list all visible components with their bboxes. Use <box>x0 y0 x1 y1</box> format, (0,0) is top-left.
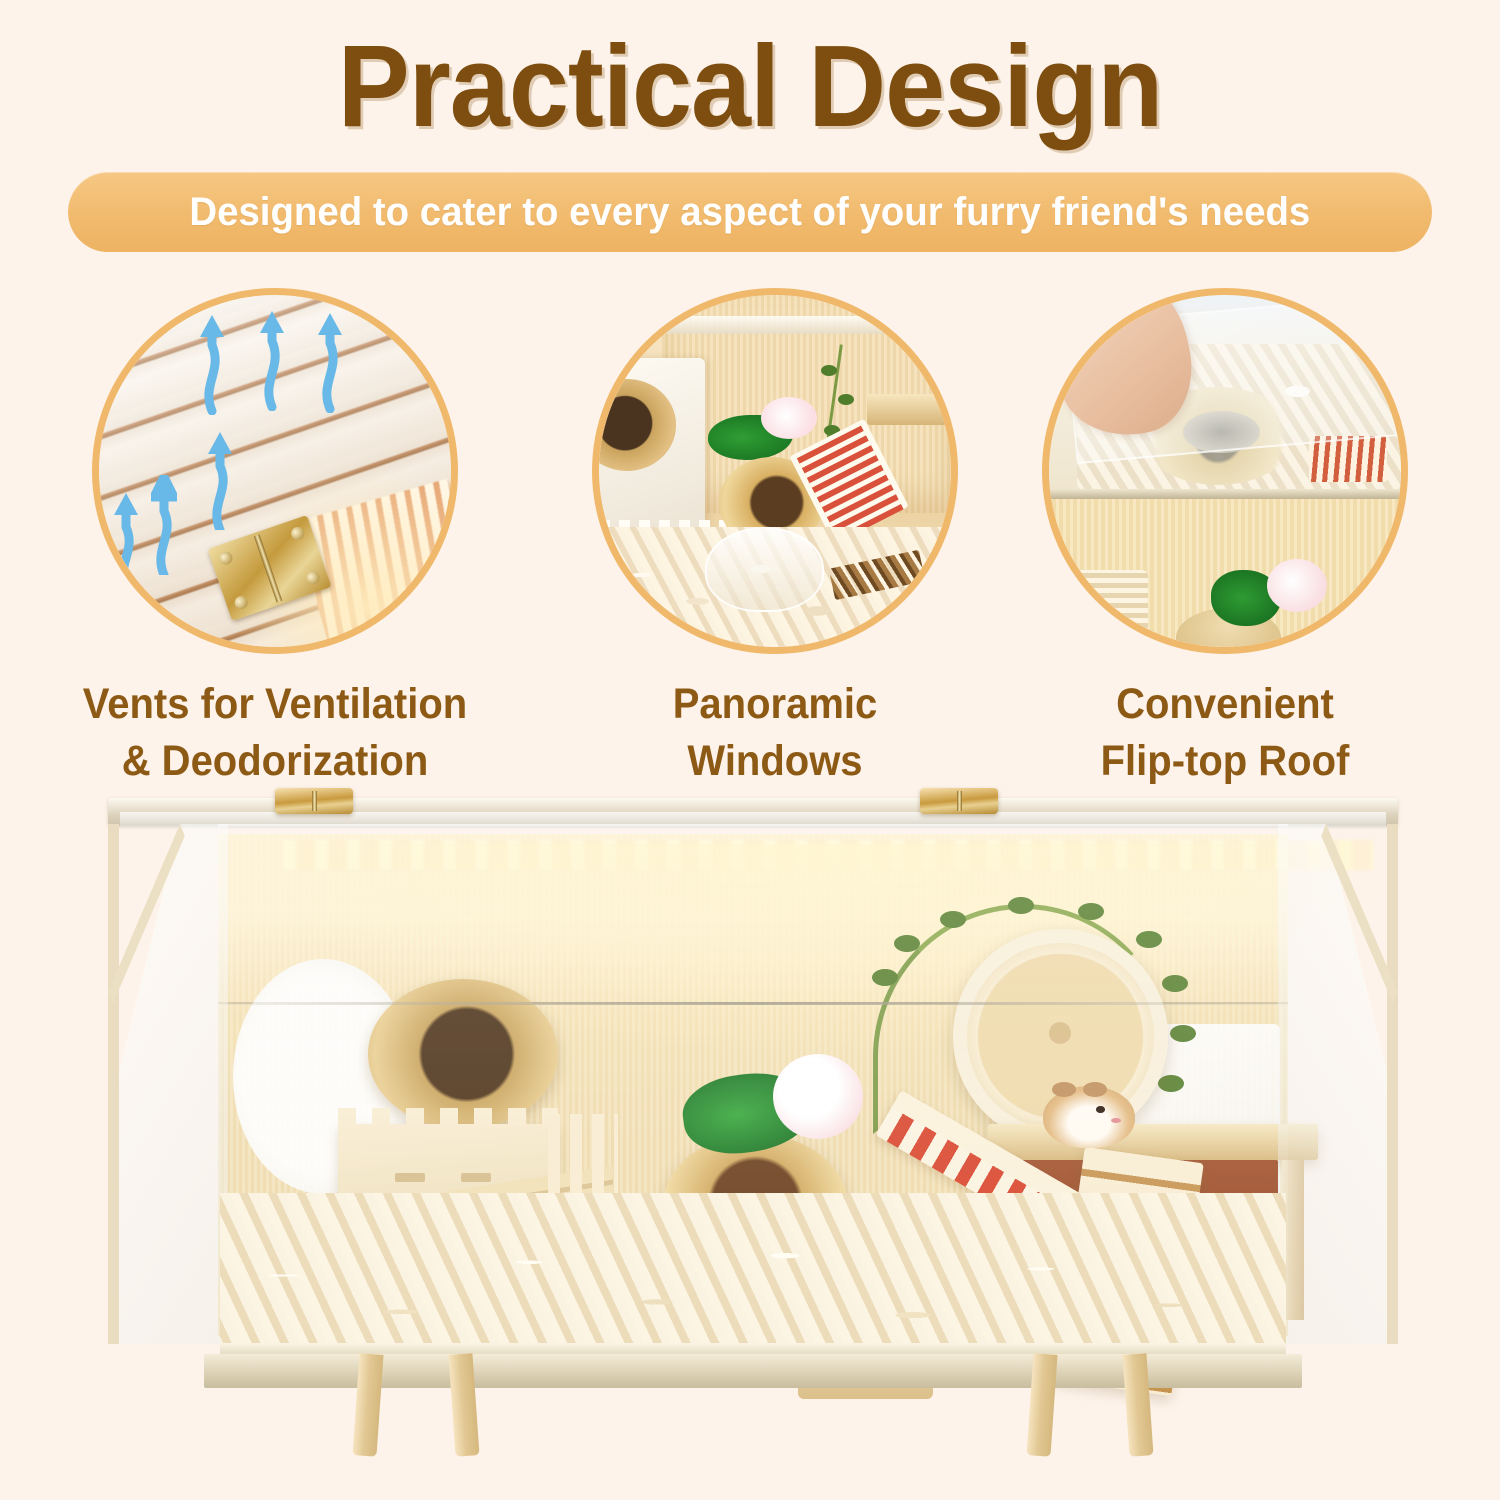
left-frame <box>108 824 228 1344</box>
feature-row: Vents for Ventilation & Deodorization <box>0 288 1500 788</box>
right-frame <box>1278 824 1398 1344</box>
feature-ventilation: Vents for Ventilation & Deodorization <box>60 288 490 790</box>
subtitle-text: Designed to cater to every aspect of you… <box>190 190 1311 235</box>
acrylic-dome-bowl <box>705 527 825 611</box>
product-feature-page: Practical Design Designed to cater to ev… <box>0 0 1500 1500</box>
wood-shelf <box>867 394 951 426</box>
brass-hinge-icon <box>920 788 998 814</box>
leg <box>1026 1353 1057 1456</box>
airflow-arrow-icon <box>151 475 177 575</box>
page-title: Practical Design <box>53 26 1448 148</box>
airflow-arrow-icon <box>199 315 225 415</box>
feature-image-panoramic-windows <box>592 288 958 654</box>
feature-caption-ventilation: Vents for Ventilation & Deodorization <box>75 676 475 790</box>
pink-flower <box>1267 559 1327 612</box>
feature-flip-top-roof: Convenient Flip-top Roof <box>1010 288 1440 790</box>
woven-basket <box>1070 570 1147 633</box>
feature-image-ventilation <box>92 288 458 654</box>
airflow-arrow-icon <box>207 430 233 530</box>
acrylic-seam <box>218 1002 1288 1005</box>
feature-panoramic-windows: Panoramic Windows <box>560 288 990 790</box>
feature-caption-panoramic-windows: Panoramic Windows <box>575 676 975 790</box>
airflow-arrow-icon <box>259 311 285 411</box>
bedding <box>220 1193 1286 1358</box>
brass-hinge-icon <box>275 788 353 814</box>
striped-ramp <box>1309 436 1386 482</box>
leg <box>1122 1353 1153 1456</box>
subtitle-banner: Designed to cater to every aspect of you… <box>68 172 1432 252</box>
airflow-arrow-icon <box>317 313 343 413</box>
feature-caption-flip-top-roof: Convenient Flip-top Roof <box>1025 676 1425 790</box>
airflow-arrow-icon <box>113 491 139 591</box>
leg <box>448 1353 479 1456</box>
cage-body <box>108 824 1398 1422</box>
base-rail <box>204 1354 1302 1388</box>
product-photo <box>0 790 1500 1500</box>
acrylic-top-edge <box>599 316 951 334</box>
feature-image-flip-top-roof <box>1042 288 1408 654</box>
leg <box>352 1353 383 1456</box>
